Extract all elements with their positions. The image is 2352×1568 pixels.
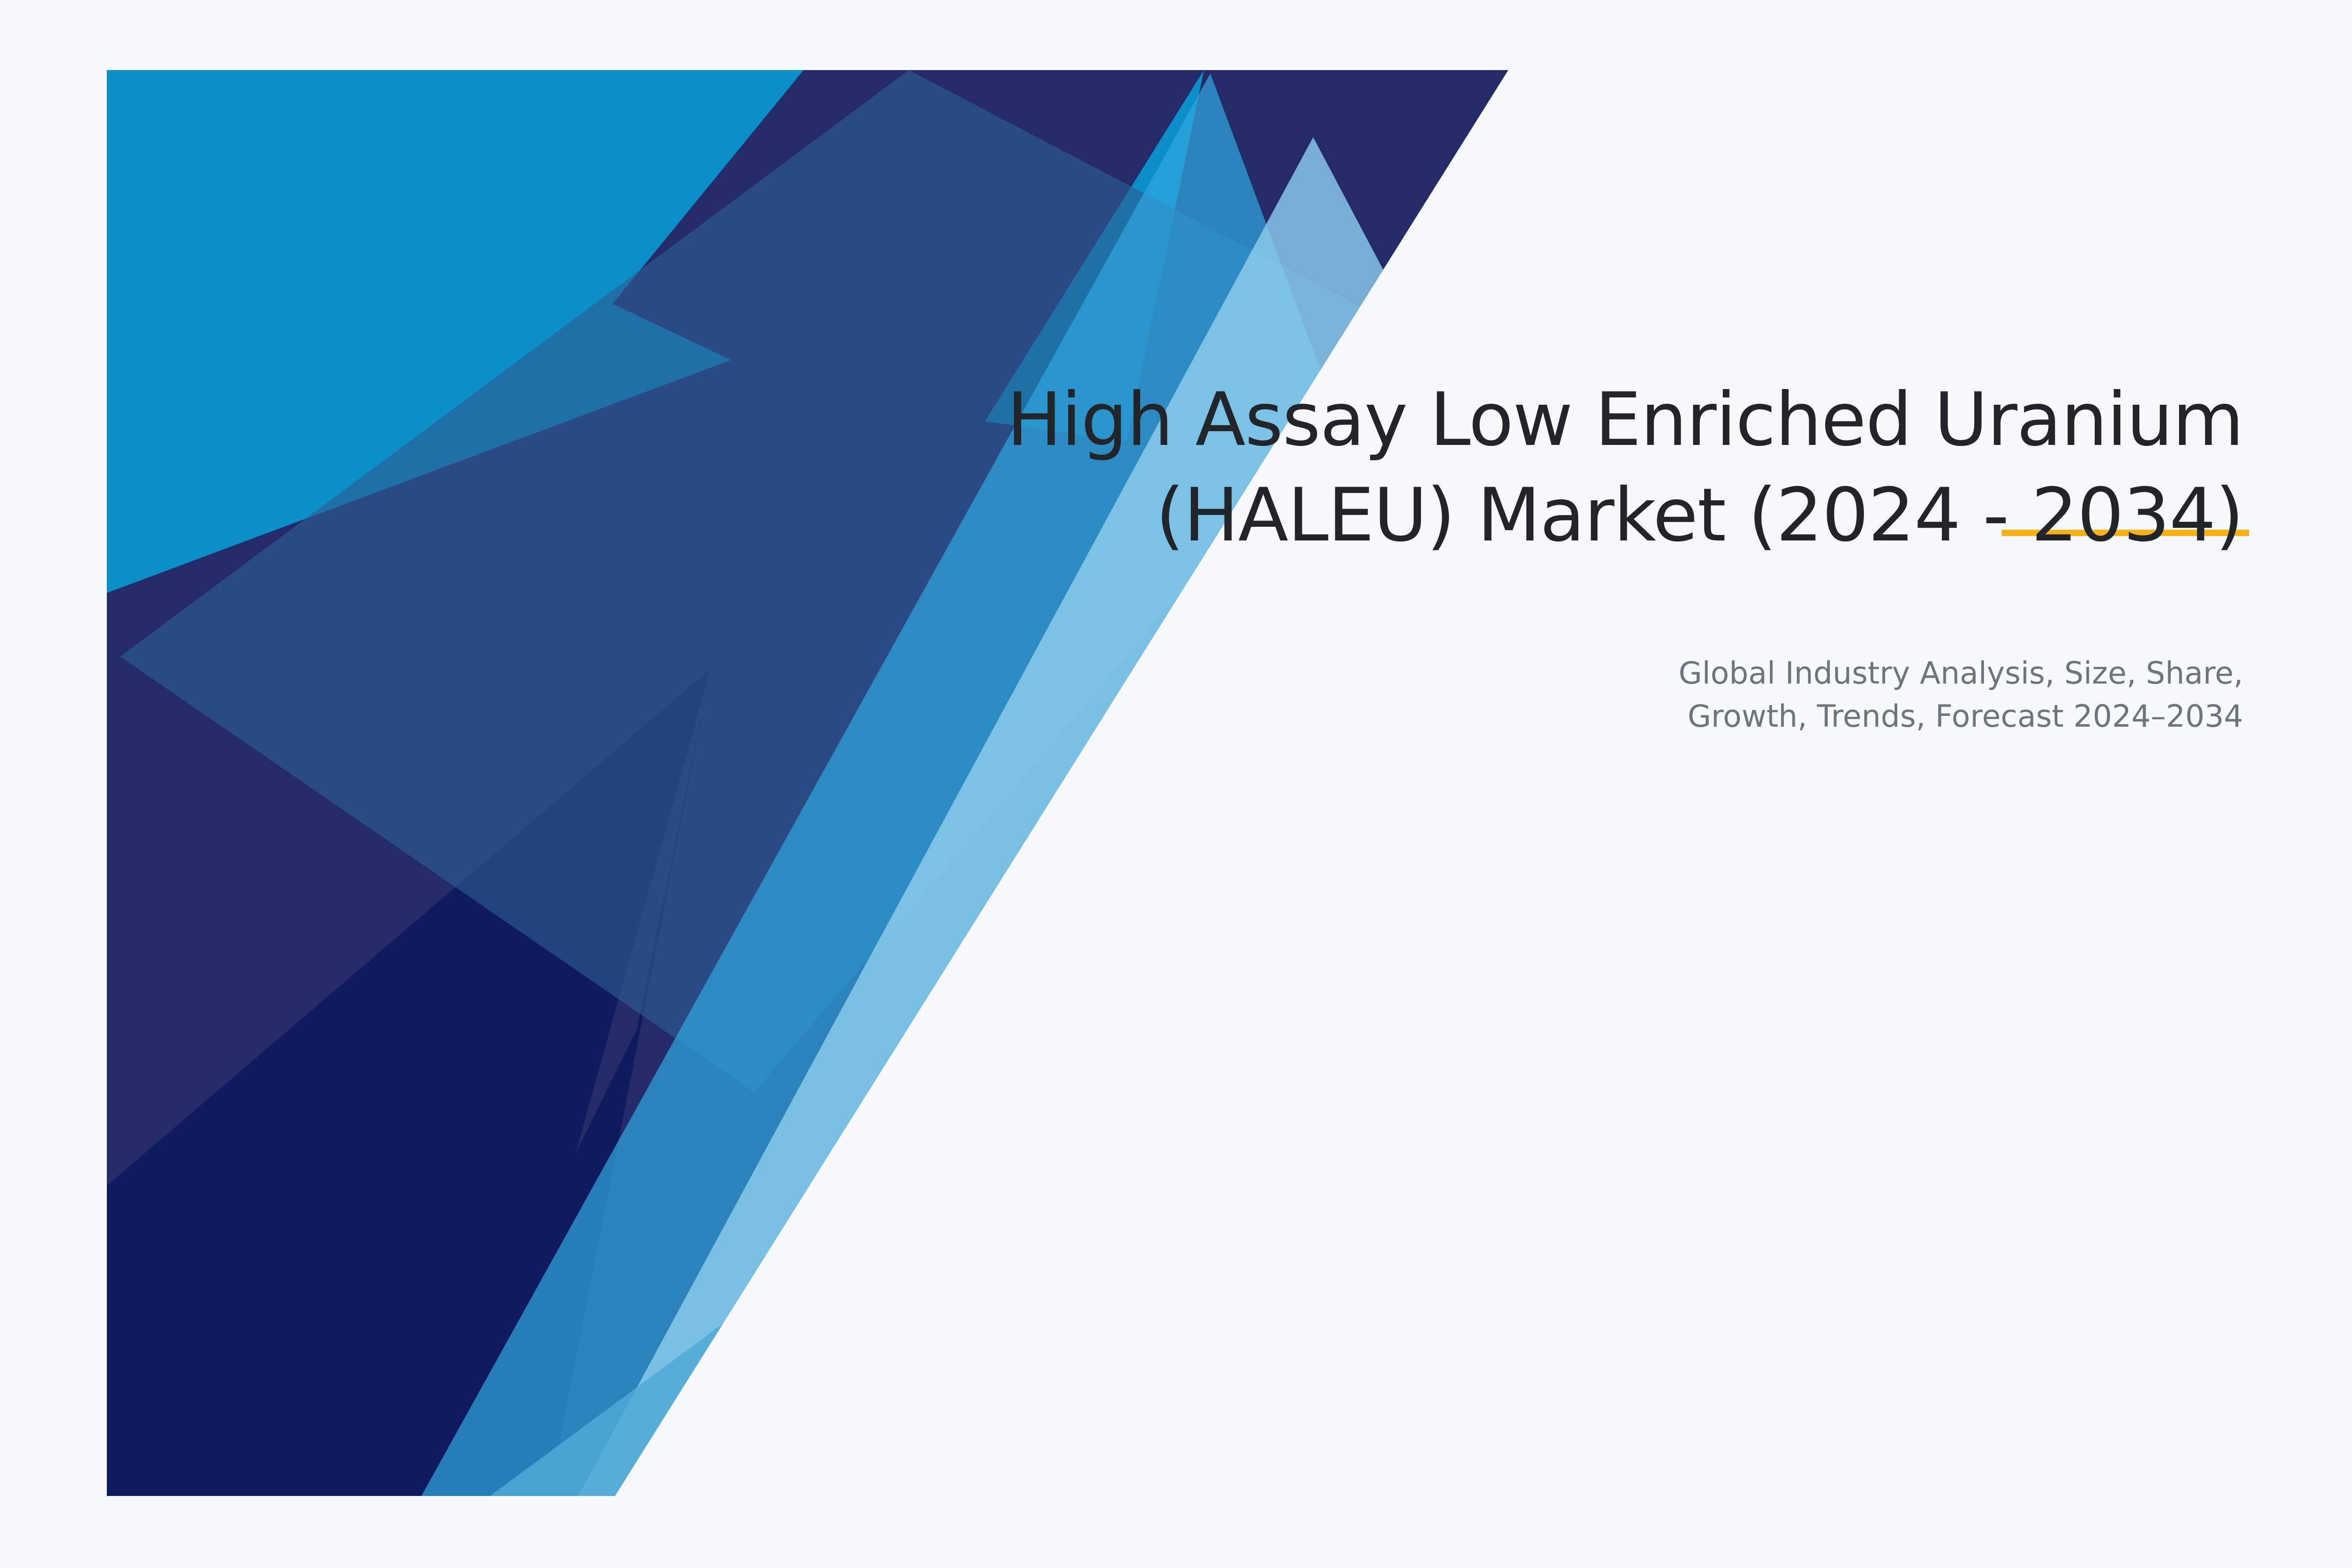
page-title: High Assay Low Enriched Uranium (HALEU) … bbox=[833, 372, 2243, 563]
cover-text-block: High Assay Low Enriched Uranium (HALEU) … bbox=[833, 372, 2243, 563]
abstract-geometric-banner bbox=[0, 0, 2352, 1568]
cover-page: High Assay Low Enriched Uranium (HALEU) … bbox=[0, 0, 2352, 1568]
page-subtitle: Global Industry Analysis, Size, Share, G… bbox=[1372, 652, 2243, 738]
